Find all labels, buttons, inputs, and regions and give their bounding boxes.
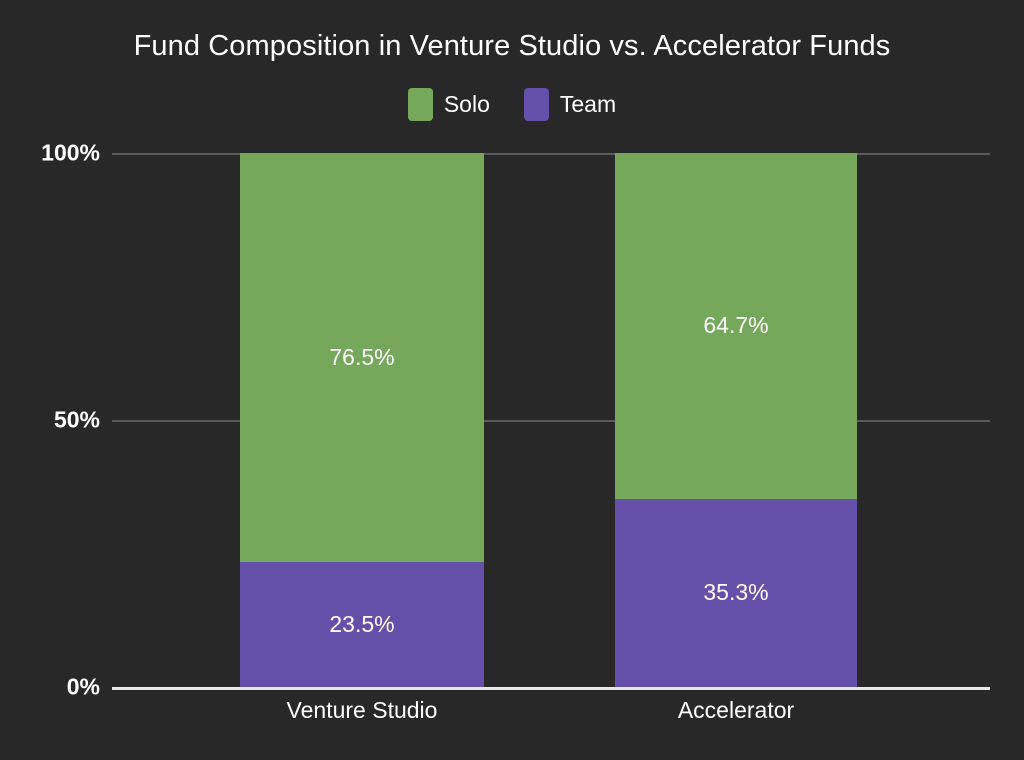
x-axis-baseline [112,687,990,690]
bar-value-venture-studio-solo: 76.5% [329,344,394,371]
chart-title: Fund Composition in Venture Studio vs. A… [0,30,1024,63]
x-axis-labels: Venture Studio Accelerator [112,697,990,737]
legend-swatch-team [524,88,549,121]
x-tick-label-venture-studio: Venture Studio [287,697,438,724]
bar-segment-accelerator-solo[interactable]: 64.7% [615,153,857,498]
bar-value-accelerator-solo: 64.7% [703,312,768,339]
chart-legend: Solo Team [0,88,1024,121]
y-tick-label-100: 100% [41,140,100,167]
legend-swatch-solo [408,88,433,121]
y-tick-label-50: 50% [54,407,100,434]
y-tick-label-0: 0% [67,674,100,701]
legend-label-team: Team [560,91,616,118]
bar-segment-venture-studio-solo[interactable]: 76.5% [240,153,484,562]
legend-label-solo: Solo [444,91,490,118]
legend-item-solo[interactable]: Solo [408,88,490,121]
bar-group-accelerator: 64.7% 35.3% [615,153,857,687]
x-tick-label-accelerator: Accelerator [678,697,794,724]
plot-area: 76.5% 23.5% 64.7% 35.3% [112,153,990,687]
bar-value-accelerator-team: 35.3% [703,579,768,606]
bar-segment-accelerator-team[interactable]: 35.3% [615,499,857,688]
chart-container: Fund Composition in Venture Studio vs. A… [0,0,1024,760]
bar-segment-venture-studio-team[interactable]: 23.5% [240,562,484,687]
y-axis-labels: 100% 50% 0% [0,153,100,687]
legend-item-team[interactable]: Team [524,88,616,121]
bar-value-venture-studio-team: 23.5% [329,611,394,638]
bar-group-venture-studio: 76.5% 23.5% [240,153,484,687]
